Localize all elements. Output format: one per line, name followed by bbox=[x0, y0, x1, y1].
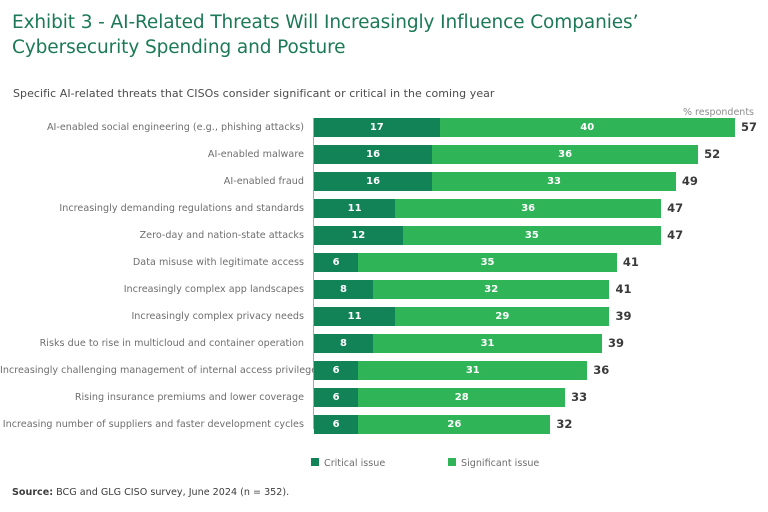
bar-segment-significant[interactable]: 40 bbox=[440, 118, 735, 137]
chart-plot-area: AI-enabled social engineering (e.g., phi… bbox=[0, 118, 768, 436]
bar-segment-critical[interactable]: 6 bbox=[314, 415, 358, 434]
chart-row: AI-enabled malware163652 bbox=[0, 145, 768, 172]
bar-segment-significant[interactable]: 29 bbox=[395, 307, 609, 326]
bar-total-label: 32 bbox=[556, 415, 572, 434]
bar-track: 628 bbox=[314, 388, 565, 407]
category-label: Increasingly demanding regulations and s… bbox=[0, 199, 304, 218]
legend-swatch-significant-icon bbox=[448, 458, 456, 466]
category-label: Risks due to rise in multicloud and cont… bbox=[0, 334, 304, 353]
category-label: AI-enabled social engineering (e.g., phi… bbox=[0, 118, 304, 137]
bar-segment-significant[interactable]: 36 bbox=[395, 199, 661, 218]
chart-row: Increasingly complex privacy needs112939 bbox=[0, 307, 768, 334]
bar-track: 626 bbox=[314, 415, 550, 434]
bar-segment-significant[interactable]: 28 bbox=[358, 388, 565, 407]
bar-total-label: 49 bbox=[682, 172, 698, 191]
bar-segment-critical[interactable]: 8 bbox=[314, 280, 373, 299]
legend-label-significant: Significant issue bbox=[461, 458, 539, 469]
chart-row: Increasingly demanding regulations and s… bbox=[0, 199, 768, 226]
category-label: AI-enabled malware bbox=[0, 145, 304, 164]
bar-segment-significant[interactable]: 35 bbox=[403, 226, 662, 245]
bar-segment-significant[interactable]: 33 bbox=[432, 172, 676, 191]
bar-track: 831 bbox=[314, 334, 602, 353]
bar-segment-significant[interactable]: 31 bbox=[358, 361, 587, 380]
bar-track: 832 bbox=[314, 280, 609, 299]
category-label: Data misuse with legitimate access bbox=[0, 253, 304, 272]
category-label: Increasingly complex app landscapes bbox=[0, 280, 304, 299]
chart-legend: Critical issue Significant issue bbox=[0, 456, 768, 472]
chart-row: AI-enabled social engineering (e.g., phi… bbox=[0, 118, 768, 145]
chart-row: Data misuse with legitimate access63541 bbox=[0, 253, 768, 280]
legend-item-critical[interactable]: Critical issue bbox=[311, 456, 385, 472]
bar-segment-significant[interactable]: 26 bbox=[358, 415, 550, 434]
bar-track: 635 bbox=[314, 253, 617, 272]
bar-segment-critical[interactable]: 11 bbox=[314, 307, 395, 326]
category-label: Increasingly challenging management of i… bbox=[0, 361, 304, 380]
bar-track: 1740 bbox=[314, 118, 735, 137]
bar-total-label: 39 bbox=[608, 334, 624, 353]
legend-label-critical: Critical issue bbox=[324, 458, 385, 469]
chart-row: Increasing number of suppliers and faste… bbox=[0, 415, 768, 442]
bar-segment-critical[interactable]: 16 bbox=[314, 145, 432, 164]
bar-total-label: 33 bbox=[571, 388, 587, 407]
bar-segment-critical[interactable]: 6 bbox=[314, 253, 358, 272]
bar-segment-critical[interactable]: 12 bbox=[314, 226, 403, 245]
chart-row: Risks due to rise in multicloud and cont… bbox=[0, 334, 768, 361]
chart-row: AI-enabled fraud163349 bbox=[0, 172, 768, 199]
bar-track: 1129 bbox=[314, 307, 609, 326]
bar-total-label: 41 bbox=[623, 253, 639, 272]
bar-track: 1636 bbox=[314, 145, 698, 164]
category-label: Zero-day and nation-state attacks bbox=[0, 226, 304, 245]
bar-total-label: 39 bbox=[615, 307, 631, 326]
axis-units-label: % respondents bbox=[683, 107, 754, 118]
bar-total-label: 52 bbox=[704, 145, 720, 164]
bar-segment-significant[interactable]: 32 bbox=[373, 280, 609, 299]
bar-segment-significant[interactable]: 36 bbox=[432, 145, 698, 164]
bar-segment-critical[interactable]: 11 bbox=[314, 199, 395, 218]
bar-segment-critical[interactable]: 16 bbox=[314, 172, 432, 191]
source-note: Source: BCG and GLG CISO survey, June 20… bbox=[12, 487, 289, 498]
category-label: Rising insurance premiums and lower cove… bbox=[0, 388, 304, 407]
source-text: BCG and GLG CISO survey, June 2024 (n = … bbox=[53, 487, 289, 498]
bar-segment-significant[interactable]: 31 bbox=[373, 334, 602, 353]
bar-total-label: 41 bbox=[615, 280, 631, 299]
bar-segment-significant[interactable]: 35 bbox=[358, 253, 617, 272]
bar-total-label: 47 bbox=[667, 226, 683, 245]
bar-total-label: 47 bbox=[667, 199, 683, 218]
bar-track: 1235 bbox=[314, 226, 661, 245]
category-label: Increasing number of suppliers and faste… bbox=[0, 415, 304, 434]
source-label: Source: bbox=[12, 487, 53, 498]
bar-track: 631 bbox=[314, 361, 587, 380]
chart-row: Rising insurance premiums and lower cove… bbox=[0, 388, 768, 415]
bar-segment-critical[interactable]: 6 bbox=[314, 361, 358, 380]
chart-subtitle: Specific AI-related threats that CISOs c… bbox=[13, 87, 495, 100]
legend-item-significant[interactable]: Significant issue bbox=[448, 456, 539, 472]
bar-segment-critical[interactable]: 17 bbox=[314, 118, 440, 137]
chart-row: Zero-day and nation-state attacks123547 bbox=[0, 226, 768, 253]
bar-total-label: 36 bbox=[593, 361, 609, 380]
bar-track: 1633 bbox=[314, 172, 676, 191]
chart-row: Increasingly complex app landscapes83241 bbox=[0, 280, 768, 307]
bar-segment-critical[interactable]: 6 bbox=[314, 388, 358, 407]
page-title: Exhibit 3 - AI-Related Threats Will Incr… bbox=[12, 10, 756, 60]
bar-track: 1136 bbox=[314, 199, 661, 218]
chart-row: Increasingly challenging management of i… bbox=[0, 361, 768, 388]
category-label: Increasingly complex privacy needs bbox=[0, 307, 304, 326]
legend-swatch-critical-icon bbox=[311, 458, 319, 466]
bar-total-label: 57 bbox=[741, 118, 757, 137]
bar-segment-critical[interactable]: 8 bbox=[314, 334, 373, 353]
category-label: AI-enabled fraud bbox=[0, 172, 304, 191]
